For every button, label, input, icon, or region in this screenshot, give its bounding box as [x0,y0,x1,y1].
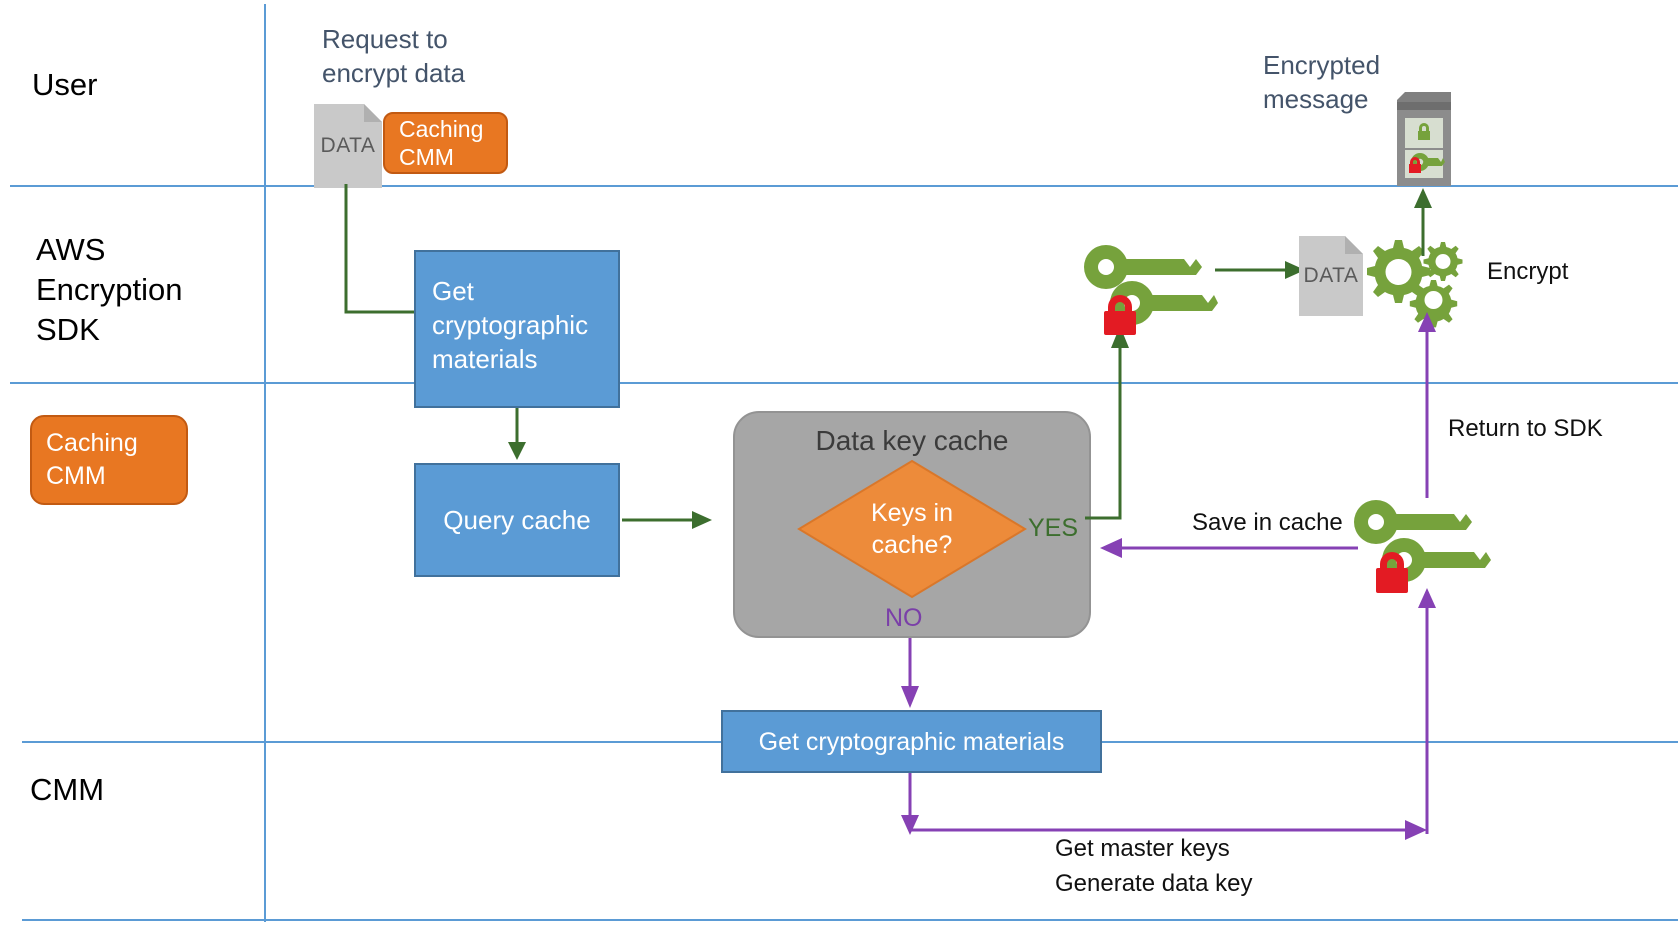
box-get-cryptographic-materials-sdk[interactable]: Get cryptographic materials [414,250,620,408]
decision-yes-label: YES [1028,514,1078,543]
data-file-icon: DATA [314,104,382,188]
data-file-label: DATA [314,134,382,158]
annotation-return-to-sdk: Return to SDK [1448,413,1603,445]
decision-keys-in-cache[interactable]: Keys in cache? [797,459,1027,599]
lane-title-aws-encryption-sdk: AWS Encryption SDK [36,230,182,350]
arrow-no-to-get-crypto-materials-cmm [895,638,925,710]
box-get-cryptographic-materials-cmm[interactable]: Get cryptographic materials [721,710,1102,773]
lane-title-user: User [32,65,97,105]
annotation-save-in-cache: Save in cache [1192,507,1343,539]
data-file-encrypt-icon: DATA [1299,236,1363,316]
key-pair-icon [1078,245,1218,335]
arrow-return-to-sdk [1412,310,1442,500]
arrow-query-cache-to-data-key-cache [622,505,732,535]
arrow-get-crypto-to-query-cache [505,408,535,462]
data-key-cache-title: Data key cache [735,425,1089,457]
encrypted-archive-icon [1393,90,1455,186]
annotation-encrypt: Encrypt [1487,256,1568,288]
lane-bottom-border [22,919,1678,921]
generated-key-pair-icon [1348,500,1493,595]
annotation-generate-data-key: Generate data key [1055,868,1252,900]
box-query-cache[interactable]: Query cache [414,463,620,577]
caching-cmm-badge: Caching CMM [383,112,508,174]
legend-caching-cmm-chip: Caching CMM [30,415,188,505]
lane-title-cmm: CMM [30,770,104,810]
swimlane-diagram: User AWS Encryption SDK CMM Caching CMM … [0,0,1678,926]
annotation-request-to-encrypt-data: Request to encrypt data [322,22,582,90]
arrow-yes-to-cached-keys [1085,320,1205,520]
decision-no-label: NO [885,604,923,633]
arrow-master-keys-riser [1412,586,1442,836]
annotation-get-master-keys: Get master keys [1055,833,1230,865]
arrow-encrypt-to-encrypted-message [1408,186,1438,258]
data-file-encrypt-label: DATA [1299,264,1363,288]
lane-label-column-divider [264,4,266,922]
